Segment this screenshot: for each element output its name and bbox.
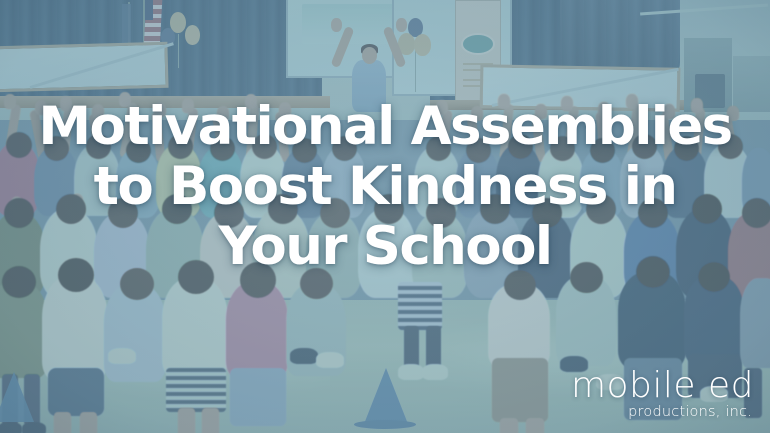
headline-line-3: Your School xyxy=(219,217,552,277)
headline-line-1: Motivational Assemblies xyxy=(38,97,731,157)
mobile-ed-logo: mobile ed productions, inc. xyxy=(571,368,754,420)
logo-wordmark: mobile ed xyxy=(571,368,754,404)
logo-tagline: productions, inc. xyxy=(571,405,752,420)
headline-line-2: to Boost Kindness in xyxy=(94,157,677,217)
hero-banner: Motivational Assemblies to Boost Kindnes… xyxy=(0,0,770,433)
